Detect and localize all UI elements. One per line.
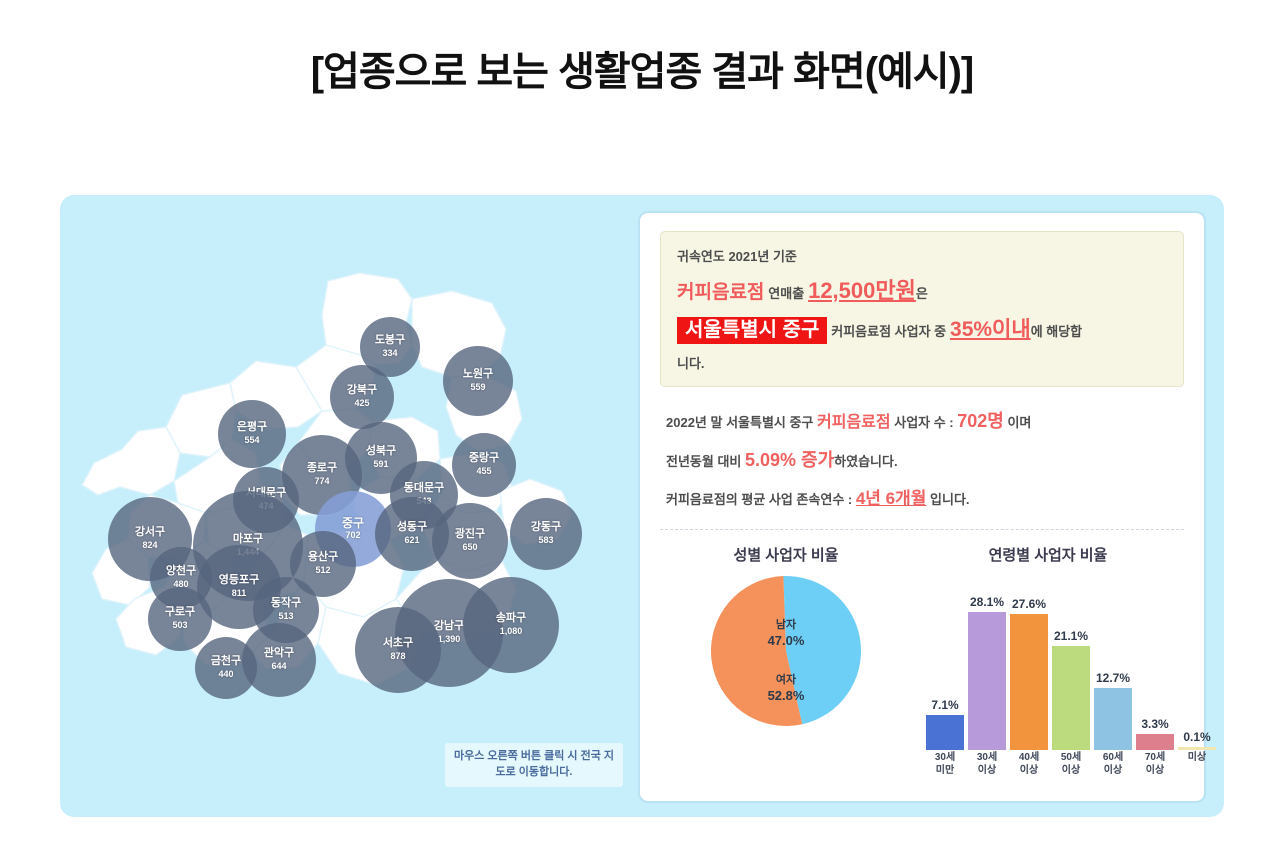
bar-value-label: 3.3% [1141,717,1168,731]
age-bars: 7.1%28.1%27.6%21.1%12.7%3.3%0.1% [918,575,1178,750]
bar-category-label: 60세이상 [1090,752,1136,777]
map-bubble-name: 도봉구 [375,335,405,347]
summary-region-chip: 서울특별시 중구 [677,317,827,344]
info-panel: 귀속연도 2021년 기준 커피음료점 연매출 12,500만원은 서울특별시 … [638,211,1206,803]
summary-year-line: 귀속연도 2021년 기준 [677,246,1167,267]
bar-column[interactable]: 7.1% [926,715,964,750]
stats-line-2: 전년동월 대비 5.09% 증가하였습니다. [666,448,1180,473]
summary-revenue-line: 커피음료점 연매출 12,500만원은 [677,274,1167,308]
map-bubble-name: 강서구 [135,527,165,539]
bar-rect [1010,614,1048,750]
bar-category-line1: 70세 [1132,752,1178,765]
map-bubble-value: 650 [462,543,477,552]
bar-category-label: 50세이상 [1048,752,1094,777]
map-bubble-value: 554 [244,436,259,445]
map-bubble-name: 성북구 [366,446,396,458]
stats-box: 2022년 말 서울특별시 중구 커피음료점 사업자 수 : 702명 이며 전… [660,387,1184,525]
map-bubble-name: 중구 [342,517,364,530]
stats-3b: 입니다. [926,492,969,507]
bar-category-line2: 이상 [964,765,1010,778]
map-bubble-value: 1,390 [438,635,461,644]
map-bubble-name: 중랑구 [469,453,499,465]
map-bubble[interactable]: 송파구1,080 [463,577,559,673]
map-bubble-value: 774 [314,477,329,486]
map-bubble[interactable]: 강북구425 [330,365,394,429]
stats-industry: 커피음료점 [817,414,891,431]
map-bubble[interactable]: 중랑구455 [452,433,516,497]
bar-category-line2: 이상 [1090,765,1136,778]
map-bubble-value: 440 [218,670,233,679]
bar-category-line2: 이상 [1132,765,1178,778]
map-bubble-value: 644 [271,662,286,671]
map-bubble-value: 878 [390,652,405,661]
summary-mid-text: 커피음료점 사업자 중 [831,324,946,339]
map-bubble-name: 금천구 [211,656,241,668]
stats-growth: 5.09% 증가 [745,450,834,470]
map-bubble-value: 455 [476,467,491,476]
stats-1a: 2022년 말 서울특별시 중구 [666,415,817,430]
bar-category-line1: 30세 [964,752,1010,765]
bar-category-label: 30세이상 [964,752,1010,777]
bar-rect [1178,747,1216,750]
map-bubble[interactable]: 광진구650 [432,503,508,579]
summary-revenue-label: 연매출 [768,286,804,301]
map-bubble-value: 512 [315,566,330,575]
summary-tail2: 니다. [677,356,705,371]
map-bubble-name: 광진구 [455,529,485,541]
bar-column[interactable]: 0.1% [1178,747,1216,750]
bar-value-label: 0.1% [1183,730,1210,744]
gender-chart: 성별 사업자 비율 남자47.0% 여자52.8% [660,540,912,784]
bar-value-label: 12.7% [1096,671,1130,685]
bar-category-line1: 50세 [1048,752,1094,765]
map-bubble-name: 동대문구 [404,483,444,495]
charts-row: 성별 사업자 비율 남자47.0% 여자52.8% 연령별 사업자 비율 7.1… [660,540,1184,784]
page-title: [업종으로 보는 생활업종 결과 화면(예시)] [0,27,1284,95]
result-window: 도봉구334노원구559강북구425은평구554성북구591종로구774중랑구4… [60,195,1224,817]
map-bubble-name: 강동구 [531,522,561,534]
map-bubble-name: 강북구 [347,385,377,397]
map-bubble-name: 영등포구 [219,575,259,587]
section-divider [660,529,1184,530]
stats-3a: 커피음료점의 평균 사업 존속연수 : [666,492,856,507]
map-bubble[interactable]: 강동구583 [510,498,582,570]
gender-pie-svg [710,575,862,727]
pie-label-value: 52.8% [741,688,831,704]
map-bubble[interactable]: 서초구878 [355,607,441,693]
age-chart: 연령별 사업자 비율 7.1%28.1%27.6%21.1%12.7%3.3%0… [912,540,1184,784]
gender-pie: 남자47.0% 여자52.8% [710,575,862,727]
bar-value-label: 27.6% [1012,597,1046,611]
summary-tail: 에 해당합 [1031,324,1082,339]
age-chart-title: 연령별 사업자 비율 [912,544,1184,565]
summary-tail-line: 니다. [677,353,1167,374]
map-bubble-value: 811 [232,589,247,598]
map-bubble-value: 621 [404,536,419,545]
bar-rect [1052,646,1090,750]
summary-revenue-suffix: 은 [916,286,928,301]
map-bubble-name: 동작구 [271,598,301,610]
bar-column[interactable]: 27.6% [1010,614,1048,750]
map-bubble-name: 종로구 [307,463,337,475]
bar-category-label: 70세이상 [1132,752,1178,777]
bar-column[interactable]: 28.1% [968,612,1006,751]
stats-count: 702명 [957,411,1004,431]
map-bubble-value: 824 [142,541,157,550]
map-bubble-name: 노원구 [463,369,493,381]
bar-category-label: 미상 [1174,752,1220,765]
stats-2b: 하였습니다. [834,454,897,469]
bar-rect [1094,688,1132,751]
stats-line-3: 커피음료점의 평균 사업 존속연수 : 4년 6개월 입니다. [666,487,1180,511]
bar-category-line2: 이상 [1006,765,1052,778]
bar-rect [968,612,1006,751]
map-bubble[interactable]: 금천구440 [195,637,257,699]
stats-1c: 이며 [1004,415,1032,430]
bar-column[interactable]: 12.7% [1094,688,1132,751]
bar-category-line2: 미만 [922,765,968,778]
map-bubble-name: 강남구 [434,621,464,633]
map-bubble-name: 송파구 [496,613,526,625]
map-bubble-name: 양천구 [166,566,196,578]
bar-value-label: 7.1% [931,698,958,712]
summary-box: 귀속연도 2021년 기준 커피음료점 연매출 12,500만원은 서울특별시 … [660,231,1184,387]
map-bubble-name: 서초구 [383,638,413,650]
pie-label-male: 남자47.0% [741,619,831,649]
map-bubble-value: 583 [538,536,553,545]
bar-category-line1: 60세 [1090,752,1136,765]
stats-2a: 전년동월 대비 [666,454,745,469]
map-bubble-value: 334 [382,349,397,358]
bar-column[interactable]: 21.1% [1052,646,1090,750]
summary-percent: 35%이내 [950,318,1031,341]
bar-value-label: 21.1% [1054,629,1088,643]
stats-1b: 사업자 수 : [891,415,958,430]
map-bubble-name: 관악구 [264,648,294,660]
map-bubble-value: 1,080 [500,627,523,636]
map-bubble-value: 425 [354,399,369,408]
map-bubble-name: 구로구 [165,607,195,619]
gender-chart-title: 성별 사업자 비율 [660,544,912,565]
summary-year: 귀속연도 2021년 기준 [677,249,797,264]
bar-rect [1136,734,1174,750]
map-bubble-value: 503 [172,621,187,630]
pie-label-female: 여자52.8% [741,674,831,704]
map-bubble-name: 용산구 [308,552,338,564]
map-bubble[interactable]: 노원구559 [443,346,513,416]
bar-value-label: 28.1% [970,595,1004,609]
map-bubble-value: 702 [345,531,360,540]
map-bubble-value: 559 [470,383,485,392]
summary-industry: 커피음료점 [677,282,764,303]
bar-category-label: 40세이상 [1006,752,1052,777]
summary-revenue-value: 12,500만원 [808,278,916,303]
age-bar-axis: 30세미만30세이상40세이상50세이상60세이상70세이상미상 [918,750,1178,784]
stats-line-1: 2022년 말 서울특별시 중구 커피음료점 사업자 수 : 702명 이며 [666,409,1180,434]
map-bubble[interactable]: 구로구503 [148,587,212,651]
pie-label-name: 남자 [741,619,831,633]
pie-label-name: 여자 [741,674,831,688]
map-bubble-value: 591 [373,460,388,469]
map-bubble-name: 성동구 [397,522,427,534]
map-hint: 마우스 오른쪽 버튼 클릭 시 전국 지도로 이동합니다. [445,743,623,787]
map-bubble-name: 은평구 [237,422,267,434]
map-bubble-value: 513 [278,612,293,621]
bar-category-line2: 이상 [1048,765,1094,778]
pie-label-value: 47.0% [741,633,831,649]
stats-duration: 4년 6개월 [856,489,927,508]
summary-region-line: 서울특별시 중구 커피음료점 사업자 중 35%이내에 해당합 [677,314,1167,346]
seoul-bubble-map[interactable]: 도봉구334노원구559강북구425은평구554성북구591종로구774중랑구4… [60,195,630,817]
bar-category-line1: 40세 [1006,752,1052,765]
bar-category-line1: 30세 [922,752,968,765]
bar-category-line1: 미상 [1174,752,1220,765]
bar-rect [926,715,964,750]
bar-column[interactable]: 3.3% [1136,734,1174,750]
map-bubble[interactable]: 은평구554 [218,400,286,468]
bar-category-label: 30세미만 [922,752,968,777]
